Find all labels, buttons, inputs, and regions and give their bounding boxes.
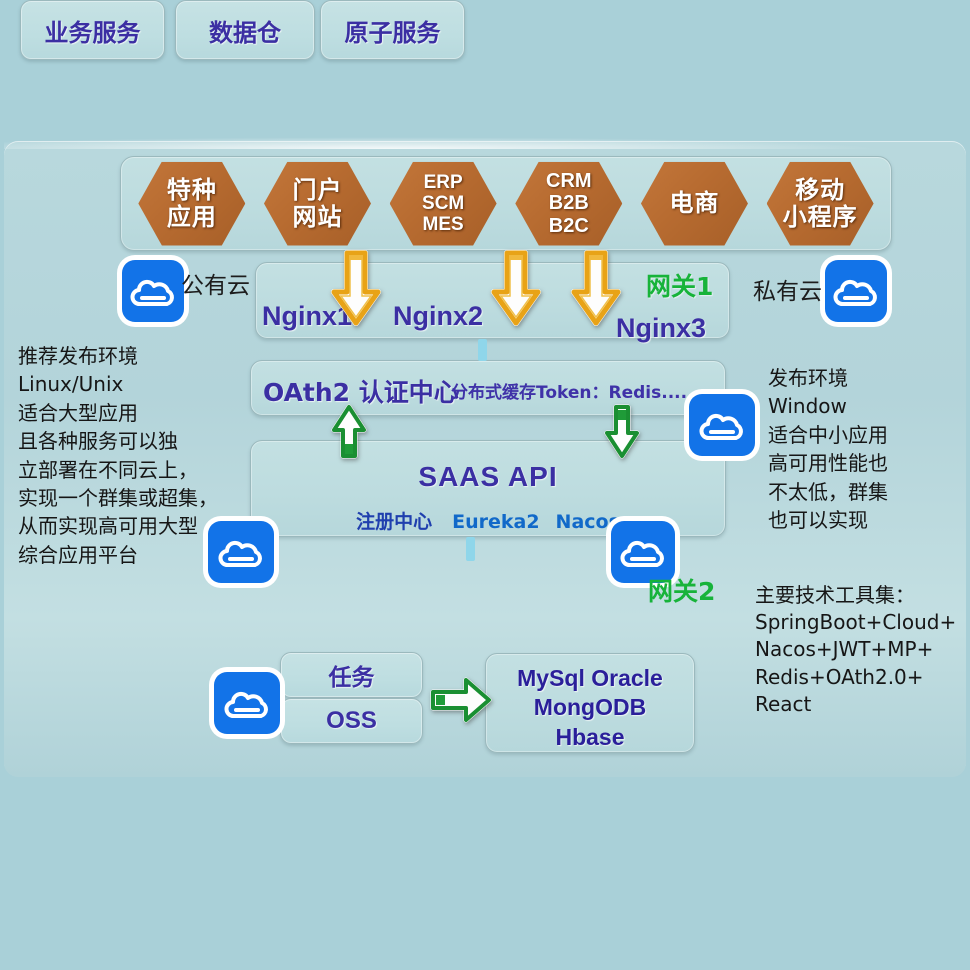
app-hex-ecommerce-line1: 电商 bbox=[669, 190, 719, 217]
registry-eureka: Eureka2 bbox=[452, 511, 539, 533]
app-hex-crm-line2: B2B bbox=[546, 192, 592, 214]
gateway2-label: 网关2 bbox=[648, 572, 715, 608]
left-note-text: 推荐发布环境 Linux/Unix 适合大型应用 且各种服务可以独 立部署在不同… bbox=[18, 342, 238, 569]
app-hex-crm-line1: CRM bbox=[546, 170, 592, 192]
cloud-icon-storage[interactable] bbox=[214, 672, 280, 734]
registry-nacos: Nacos bbox=[556, 511, 620, 533]
gateway1-label: 网关1 bbox=[646, 267, 713, 303]
app-hex-mobile-line2: 小程序 bbox=[783, 204, 858, 231]
service-business[interactable]: 业务服务 bbox=[20, 0, 165, 60]
database-labels: MySql Oracle MongODB Hbase bbox=[486, 664, 694, 752]
arrow-down-icon-1 bbox=[330, 250, 382, 328]
app-hex-crm[interactable]: CRMB2BB2C bbox=[515, 162, 622, 246]
db-line-3: Hbase bbox=[486, 723, 694, 752]
app-hex-special[interactable]: 特种应用 bbox=[138, 162, 245, 246]
database-container: MySql Oracle MongODB Hbase bbox=[485, 653, 695, 753]
app-hex-ecommerce[interactable]: 电商 bbox=[641, 162, 748, 246]
cloud-icon-auth[interactable] bbox=[689, 394, 755, 456]
app-hex-portal[interactable]: 门户网站 bbox=[264, 162, 371, 246]
application-hex-row: 特种应用 门户网站 ERPSCMMES CRMB2BB2C 电商 移动小程序 bbox=[121, 157, 891, 250]
private-cloud-label: 私有云 bbox=[753, 272, 822, 306]
task-box[interactable]: 任务 bbox=[280, 652, 423, 698]
saas-api-title: SAAS API bbox=[251, 461, 725, 493]
diagram-canvas: 特种应用 门户网站 ERPSCMMES CRMB2BB2C 电商 移动小程序 N… bbox=[0, 0, 970, 970]
oss-box[interactable]: OSS bbox=[280, 698, 423, 744]
arrow-down-icon-green bbox=[604, 404, 640, 460]
cloud-icon-private[interactable] bbox=[825, 260, 887, 322]
token-cache-label: 分布式缓存Token：Redis.... bbox=[451, 378, 687, 403]
connector-gw1-oauth bbox=[478, 339, 487, 361]
app-hex-erp-line2: SCM bbox=[422, 193, 464, 214]
arrow-down-icon-2 bbox=[490, 250, 542, 328]
service-atomic[interactable]: 原子服务 bbox=[320, 0, 465, 60]
application-layer-container: 特种应用 门户网站 ERPSCMMES CRMB2BB2C 电商 移动小程序 bbox=[120, 156, 892, 251]
app-hex-mobile-line1: 移动 bbox=[783, 177, 858, 204]
service-warehouse[interactable]: 数据仓 bbox=[175, 0, 315, 60]
nginx2-label: Nginx2 bbox=[393, 301, 483, 332]
app-hex-erp-line3: MES bbox=[422, 214, 464, 235]
public-cloud-label: 公有云 bbox=[181, 266, 250, 300]
arrow-up-icon-green bbox=[331, 404, 367, 460]
arrow-down-icon-3 bbox=[570, 250, 622, 328]
db-line-1: MySql Oracle bbox=[486, 664, 694, 693]
right-environment-note: 发布环境 Window 适合中小应用 高可用性能也 不太低，群集 也可以实现 bbox=[768, 364, 958, 534]
app-hex-mobile[interactable]: 移动小程序 bbox=[767, 162, 874, 246]
service-row: 业务服务 数据仓 原子服务 bbox=[0, 0, 476, 62]
app-hex-erp-line1: ERP bbox=[422, 172, 464, 193]
registry-label: 注册中心 bbox=[356, 511, 432, 533]
right-tech-stack-note: 主要技术工具集： SpringBoot+Cloud+ Nacos+JWT+MP+… bbox=[755, 582, 965, 718]
arrow-right-icon-green bbox=[430, 675, 492, 725]
cloud-icon-public[interactable] bbox=[122, 260, 184, 322]
app-hex-special-line1: 特种 bbox=[167, 177, 217, 204]
db-line-2: MongODB bbox=[486, 693, 694, 722]
nginx3-label: Nginx3 bbox=[616, 313, 706, 344]
oauth-container: OAth2 认证中心 分布式缓存Token：Redis.... bbox=[250, 360, 726, 416]
app-hex-special-line2: 应用 bbox=[167, 204, 217, 231]
app-hex-portal-line1: 门户 bbox=[292, 177, 342, 204]
app-hex-crm-line3: B2C bbox=[546, 215, 592, 237]
app-hex-portal-line2: 网站 bbox=[292, 204, 342, 231]
connector-saas-services bbox=[466, 537, 475, 561]
app-hex-erp[interactable]: ERPSCMMES bbox=[390, 162, 497, 246]
